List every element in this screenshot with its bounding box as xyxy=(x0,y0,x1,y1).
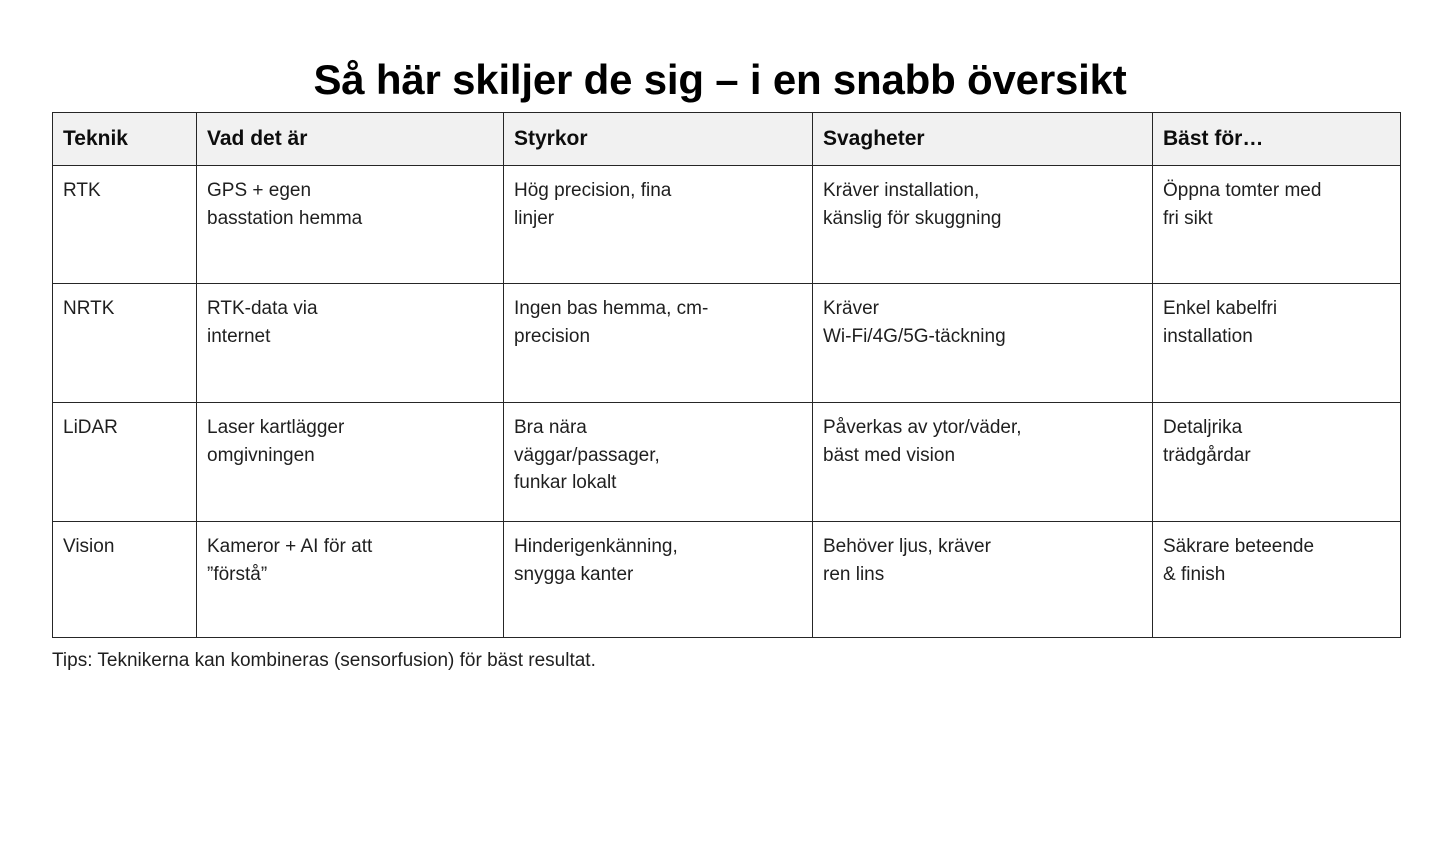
column-header-vad-det-ar-label: Vad det är xyxy=(197,113,503,151)
cell-teknik: Vision xyxy=(53,522,197,638)
comparison-table-container: Teknik Vad det är Styrkor Svagheter Bäst… xyxy=(52,112,1400,638)
cell-vad-det-ar-text: Laser kartlägger omgivningen xyxy=(197,403,503,469)
cell-styrkor: Ingen bas hemma, cm- precision xyxy=(504,284,813,403)
cell-vad-det-ar: Laser kartlägger omgivningen xyxy=(197,403,504,522)
column-header-teknik-label: Teknik xyxy=(53,113,196,151)
table-row: Vision Kameror + AI för att ”förstå” Hin… xyxy=(53,522,1401,638)
cell-teknik: NRTK xyxy=(53,284,197,403)
cell-styrkor: Bra nära väggar/passager, funkar lokalt xyxy=(504,403,813,522)
table-header: Teknik Vad det är Styrkor Svagheter Bäst… xyxy=(53,113,1401,166)
cell-teknik: LiDAR xyxy=(53,403,197,522)
cell-teknik-text: Vision xyxy=(53,522,196,561)
cell-svagheter-text: Behöver ljus, kräver ren lins xyxy=(813,522,1152,588)
tip-text: Tips: Teknikerna kan kombineras (sensorf… xyxy=(52,648,596,675)
cell-vad-det-ar-text: RTK-data via internet xyxy=(197,284,503,350)
cell-svagheter-text: Påverkas av ytor/väder, bäst med vision xyxy=(813,403,1152,469)
column-header-vad-det-ar: Vad det är xyxy=(197,113,504,166)
cell-teknik: RTK xyxy=(53,166,197,284)
cell-teknik-text: NRTK xyxy=(53,284,196,323)
column-header-bast-for-label: Bäst för… xyxy=(1153,113,1400,151)
cell-vad-det-ar: GPS + egen basstation hemma xyxy=(197,166,504,284)
cell-bast-for-text: Detaljrika trädgårdar xyxy=(1153,403,1400,469)
cell-bast-for: Enkel kabelfri installation xyxy=(1153,284,1401,403)
column-header-svagheter-label: Svagheter xyxy=(813,113,1152,151)
column-header-styrkor-label: Styrkor xyxy=(504,113,812,151)
cell-vad-det-ar: Kameror + AI för att ”förstå” xyxy=(197,522,504,638)
page-title: Så här skiljer de sig – i en snabb övers… xyxy=(0,56,1440,104)
cell-svagheter-text: Kräver installation, känslig för skuggni… xyxy=(813,166,1152,232)
cell-styrkor-text: Ingen bas hemma, cm- precision xyxy=(504,284,812,350)
cell-styrkor: Hinderigenkänning, snygga kanter xyxy=(504,522,813,638)
cell-styrkor-text: Hög precision, fina linjer xyxy=(504,166,812,232)
cell-styrkor: Hög precision, fina linjer xyxy=(504,166,813,284)
column-header-bast-for: Bäst för… xyxy=(1153,113,1401,166)
cell-styrkor-text: Hinderigenkänning, snygga kanter xyxy=(504,522,812,588)
table-body: RTK GPS + egen basstation hemma Hög prec… xyxy=(53,166,1401,638)
cell-vad-det-ar: RTK-data via internet xyxy=(197,284,504,403)
table-header-row: Teknik Vad det är Styrkor Svagheter Bäst… xyxy=(53,113,1401,166)
cell-teknik-text: LiDAR xyxy=(53,403,196,442)
cell-svagheter: Kräver installation, känslig för skuggni… xyxy=(813,166,1153,284)
cell-vad-det-ar-text: Kameror + AI för att ”förstå” xyxy=(197,522,503,588)
cell-svagheter: Påverkas av ytor/väder, bäst med vision xyxy=(813,403,1153,522)
cell-bast-for-text: Säkrare beteende & finish xyxy=(1153,522,1400,588)
cell-styrkor-text: Bra nära väggar/passager, funkar lokalt xyxy=(504,403,812,497)
cell-bast-for: Säkrare beteende & finish xyxy=(1153,522,1401,638)
cell-bast-for: Öppna tomter med fri sikt xyxy=(1153,166,1401,284)
slide-root: Så här skiljer de sig – i en snabb övers… xyxy=(0,0,1440,851)
cell-svagheter-text: Kräver Wi-Fi/4G/5G-täckning xyxy=(813,284,1152,350)
cell-vad-det-ar-text: GPS + egen basstation hemma xyxy=(197,166,503,232)
cell-teknik-text: RTK xyxy=(53,166,196,205)
cell-bast-for: Detaljrika trädgårdar xyxy=(1153,403,1401,522)
column-header-styrkor: Styrkor xyxy=(504,113,813,166)
table-row: LiDAR Laser kartlägger omgivningen Bra n… xyxy=(53,403,1401,522)
column-header-svagheter: Svagheter xyxy=(813,113,1153,166)
column-header-teknik: Teknik xyxy=(53,113,197,166)
cell-svagheter: Kräver Wi-Fi/4G/5G-täckning xyxy=(813,284,1153,403)
cell-svagheter: Behöver ljus, kräver ren lins xyxy=(813,522,1153,638)
cell-bast-for-text: Öppna tomter med fri sikt xyxy=(1153,166,1400,232)
table-row: NRTK RTK-data via internet Ingen bas hem… xyxy=(53,284,1401,403)
cell-bast-for-text: Enkel kabelfri installation xyxy=(1153,284,1400,350)
table-row: RTK GPS + egen basstation hemma Hög prec… xyxy=(53,166,1401,284)
comparison-table: Teknik Vad det är Styrkor Svagheter Bäst… xyxy=(52,112,1401,638)
